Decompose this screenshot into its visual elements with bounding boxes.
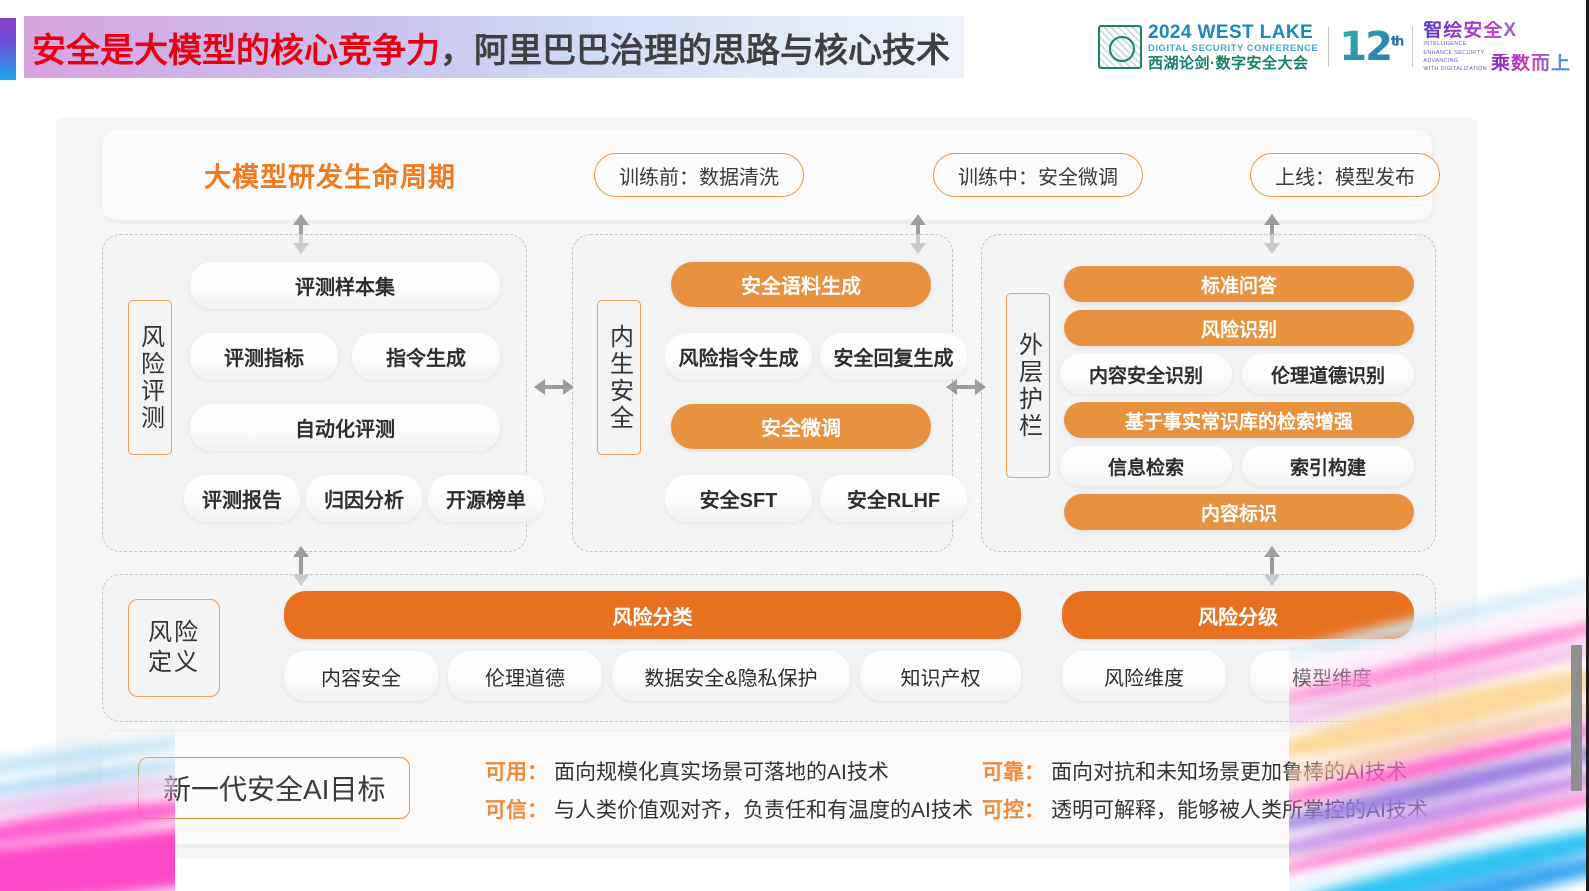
- goal-entry-controllable: 可控： 透明可解释，能够被人类所掌控的AI技术: [982, 794, 1428, 824]
- chip-ethics-identification[interactable]: 伦理道德识别: [1242, 354, 1414, 394]
- chip-risk-dimension[interactable]: 风险维度: [1062, 651, 1226, 701]
- logo-divider-2: [1412, 27, 1413, 67]
- group-label-risk-definition: 风险 定义: [128, 599, 220, 697]
- goal-entry-reliable: 可靠： 面向对抗和未知场景更加鲁棒的AI技术: [982, 756, 1407, 786]
- campaign-sub-3: ADVANCING: [1423, 57, 1487, 65]
- westlake-subtitle-en: DIGITAL SECURITY CONFERENCE: [1148, 44, 1318, 54]
- chip-content-safety-identification[interactable]: 内容安全识别: [1060, 354, 1232, 394]
- campaign-logo: 智绘安全X INTELLIGENCE ENHANCE SECURITY ADVA…: [1423, 21, 1571, 74]
- chip-safety-corpus-generation[interactable]: 安全语料生成: [671, 262, 931, 307]
- chip-instruction-generation[interactable]: 指令生成: [352, 333, 500, 380]
- campaign-line-1: 智绘安全X: [1423, 21, 1571, 41]
- diagram-card: 大模型研发生命周期 训练前：数据清洗 训练中：安全微调 上线：模型发布 风险评测…: [56, 118, 1477, 858]
- goal-title-box: 新一代安全AI目标: [138, 757, 410, 819]
- title-highlight: 安全是大模型的核心竞争力: [32, 23, 440, 72]
- group-label-risk-evaluation: 风险评测: [128, 300, 172, 455]
- chip-safety-finetuning[interactable]: 安全微调: [671, 404, 931, 449]
- goal-value-reliable: 面向对抗和未知场景更加鲁棒的AI技术: [1051, 756, 1407, 786]
- slide-title: 安全是大模型的核心竞争力 ，阿里巴巴治理的思路与核心技术: [24, 16, 964, 78]
- campaign-sub-2: ENHANCE SECURITY: [1423, 49, 1487, 57]
- chip-fact-kb-retrieval-augmentation[interactable]: 基于事实常识库的检索增强: [1064, 402, 1414, 438]
- risk-definition-label-line1: 风险: [148, 618, 200, 648]
- lifecycle-stage-release[interactable]: 上线：模型发布: [1250, 153, 1440, 197]
- chip-safety-sft[interactable]: 安全SFT: [665, 475, 812, 522]
- group-label-inherent-security: 内生安全: [597, 300, 641, 455]
- chip-risk-grading-header[interactable]: 风险分级: [1062, 591, 1414, 639]
- chip-risk-classification-header[interactable]: 风险分类: [284, 591, 1021, 639]
- goal-key-reliable: 可靠：: [982, 756, 1045, 786]
- chip-model-dimension[interactable]: 模型维度: [1250, 651, 1414, 701]
- edition-number: 12: [1339, 24, 1391, 70]
- chip-content-safety[interactable]: 内容安全: [284, 651, 438, 701]
- westlake-year: 2024 WEST LAKE: [1148, 23, 1318, 42]
- goal-key-controllable: 可控：: [982, 794, 1045, 824]
- chip-open-source-leaderboard[interactable]: 开源榜单: [428, 475, 544, 522]
- group-label-outer-guardrail: 外层护栏: [1006, 293, 1050, 478]
- goal-key-trustworthy: 可信：: [485, 794, 548, 824]
- chip-eval-sample-set[interactable]: 评测样本集: [190, 262, 500, 309]
- chip-automated-evaluation[interactable]: 自动化评测: [190, 404, 500, 451]
- slide-root: 安全是大模型的核心竞争力 ，阿里巴巴治理的思路与核心技术 2024 WEST L…: [0, 0, 1589, 891]
- goal-value-controllable: 透明可解释，能够被人类所掌控的AI技术: [1051, 794, 1428, 824]
- chip-eval-metrics[interactable]: 评测指标: [190, 333, 338, 380]
- chip-information-retrieval[interactable]: 信息检索: [1060, 446, 1232, 486]
- goal-value-trustworthy: 与人类价值观对齐，负责任和有温度的AI技术: [554, 794, 973, 824]
- title-rest: ，阿里巴巴治理的思路与核心技术: [440, 23, 950, 72]
- westlake-logo-text: 2024 WEST LAKE DIGITAL SECURITY CONFEREN…: [1148, 23, 1318, 72]
- header-logos: 2024 WEST LAKE DIGITAL SECURITY CONFEREN…: [1098, 18, 1571, 76]
- chip-ethics-morality[interactable]: 伦理道德: [448, 651, 602, 701]
- chip-intellectual-property[interactable]: 知识产权: [860, 651, 1021, 701]
- edition-logo: 12th: [1339, 27, 1402, 67]
- chip-standard-qa[interactable]: 标准问答: [1064, 266, 1414, 302]
- chip-safety-rlhf[interactable]: 安全RLHF: [820, 475, 967, 522]
- chip-risk-instruction-generation[interactable]: 风险指令生成: [665, 333, 812, 380]
- campaign-sub-4: WITH DIGITALIZATION: [1423, 65, 1487, 73]
- risk-definition-label-line2: 定义: [148, 648, 200, 678]
- goal-entry-available: 可用： 面向规模化真实场景可落地的AI技术: [485, 756, 889, 786]
- arrow-eval-inherent: [534, 376, 574, 398]
- chip-eval-report[interactable]: 评测报告: [184, 475, 300, 522]
- chip-data-security-privacy[interactable]: 数据安全&隐私保护: [612, 651, 850, 701]
- lifecycle-title: 大模型研发生命周期: [204, 156, 456, 195]
- chip-risk-identification[interactable]: 风险识别: [1064, 310, 1414, 346]
- lifecycle-stage-in-training[interactable]: 训练中：安全微调: [933, 153, 1143, 197]
- westlake-subtitle-cn: 西湖论剑·数字安全大会: [1148, 56, 1318, 71]
- chip-safe-response-generation[interactable]: 安全回复生成: [820, 333, 967, 380]
- arrow-inherent-guardrail: [946, 376, 986, 398]
- campaign-line-2: 乘数而上: [1491, 54, 1571, 74]
- chip-index-construction[interactable]: 索引构建: [1242, 446, 1414, 486]
- campaign-sub-1: INTELLIGENCE: [1423, 40, 1487, 48]
- lifecycle-stage-pre-training[interactable]: 训练前：数据清洗: [594, 153, 804, 197]
- westlake-seal-icon: [1098, 25, 1142, 69]
- goal-key-available: 可用：: [485, 756, 548, 786]
- logo-divider-1: [1328, 27, 1329, 67]
- edition-suffix: th: [1391, 35, 1402, 50]
- vertical-scrollbar-thumb[interactable]: [1571, 645, 1582, 791]
- goals-band: 新一代安全AI目标 可用： 面向规模化真实场景可落地的AI技术 可信： 与人类价…: [102, 732, 1432, 844]
- westlake-logo: 2024 WEST LAKE DIGITAL SECURITY CONFEREN…: [1098, 23, 1318, 72]
- chip-attribution-analysis[interactable]: 归因分析: [306, 475, 422, 522]
- lifecycle-band: 大模型研发生命周期 训练前：数据清洗 训练中：安全微调 上线：模型发布: [102, 130, 1432, 220]
- goal-entry-trustworthy: 可信： 与人类价值观对齐，负责任和有温度的AI技术: [485, 794, 973, 824]
- chip-content-watermark[interactable]: 内容标识: [1064, 494, 1414, 530]
- goal-value-available: 面向规模化真实场景可落地的AI技术: [554, 756, 889, 786]
